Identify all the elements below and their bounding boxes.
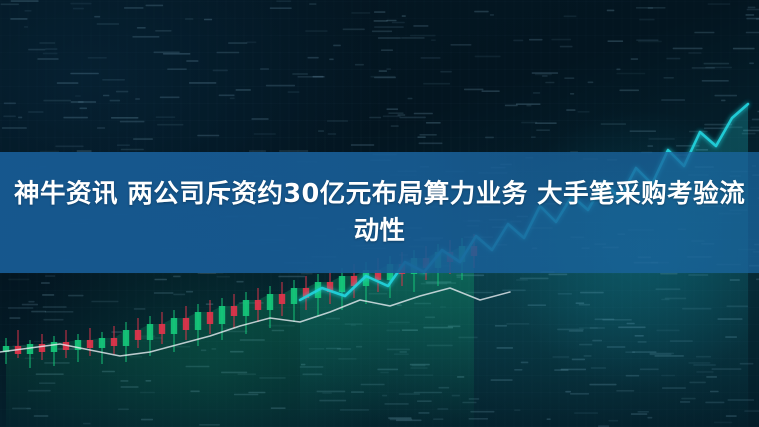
headline-title: 神牛资讯 两公司斥资约30亿元布局算力业务 大手笔采购考验流动性 xyxy=(14,176,745,248)
news-card-stage: 神牛资讯 两公司斥资约30亿元布局算力业务 大手笔采购考验流动性 xyxy=(0,0,759,427)
headline-banner: 神牛资讯 两公司斥资约30亿元布局算力业务 大手笔采购考验流动性 xyxy=(0,152,759,273)
